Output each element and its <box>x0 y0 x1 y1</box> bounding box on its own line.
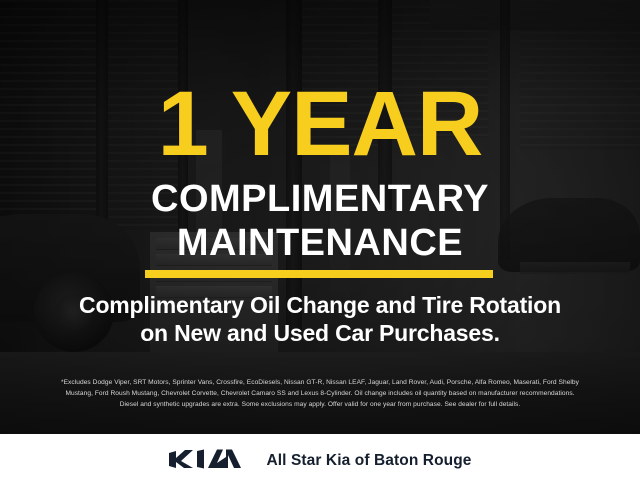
disclaimer-line-1: *Excludes Dodge Viper, SRT Motors, Sprin… <box>14 377 626 388</box>
dealer-name: All Star Kia of Baton Rouge <box>266 452 471 470</box>
tagline-line-2: on New and Used Car Purchases. <box>0 320 640 347</box>
tagline-line-1: Complimentary Oil Change and Tire Rotati… <box>0 292 640 319</box>
headline-1-year: 1 YEAR <box>0 78 640 170</box>
subhead-complimentary: COMPLIMENTARY <box>0 180 640 218</box>
banner-content: 1 YEAR COMPLIMENTARY MAINTENANCE Complim… <box>0 0 640 434</box>
yellow-divider-rule <box>145 270 493 278</box>
kia-logo-icon <box>168 448 242 475</box>
disclaimer-line-3: Diesel and synthetic upgrades are extra.… <box>14 399 626 410</box>
disclaimer-line-2: Mustang, Ford Roush Mustang, Chevrolet C… <box>14 388 626 399</box>
promo-banner: 1 YEAR COMPLIMENTARY MAINTENANCE Complim… <box>0 0 640 488</box>
footer-bar: All Star Kia of Baton Rouge <box>0 434 640 488</box>
subhead-maintenance: MAINTENANCE <box>0 224 640 262</box>
disclaimer-text: *Excludes Dodge Viper, SRT Motors, Sprin… <box>14 377 626 410</box>
